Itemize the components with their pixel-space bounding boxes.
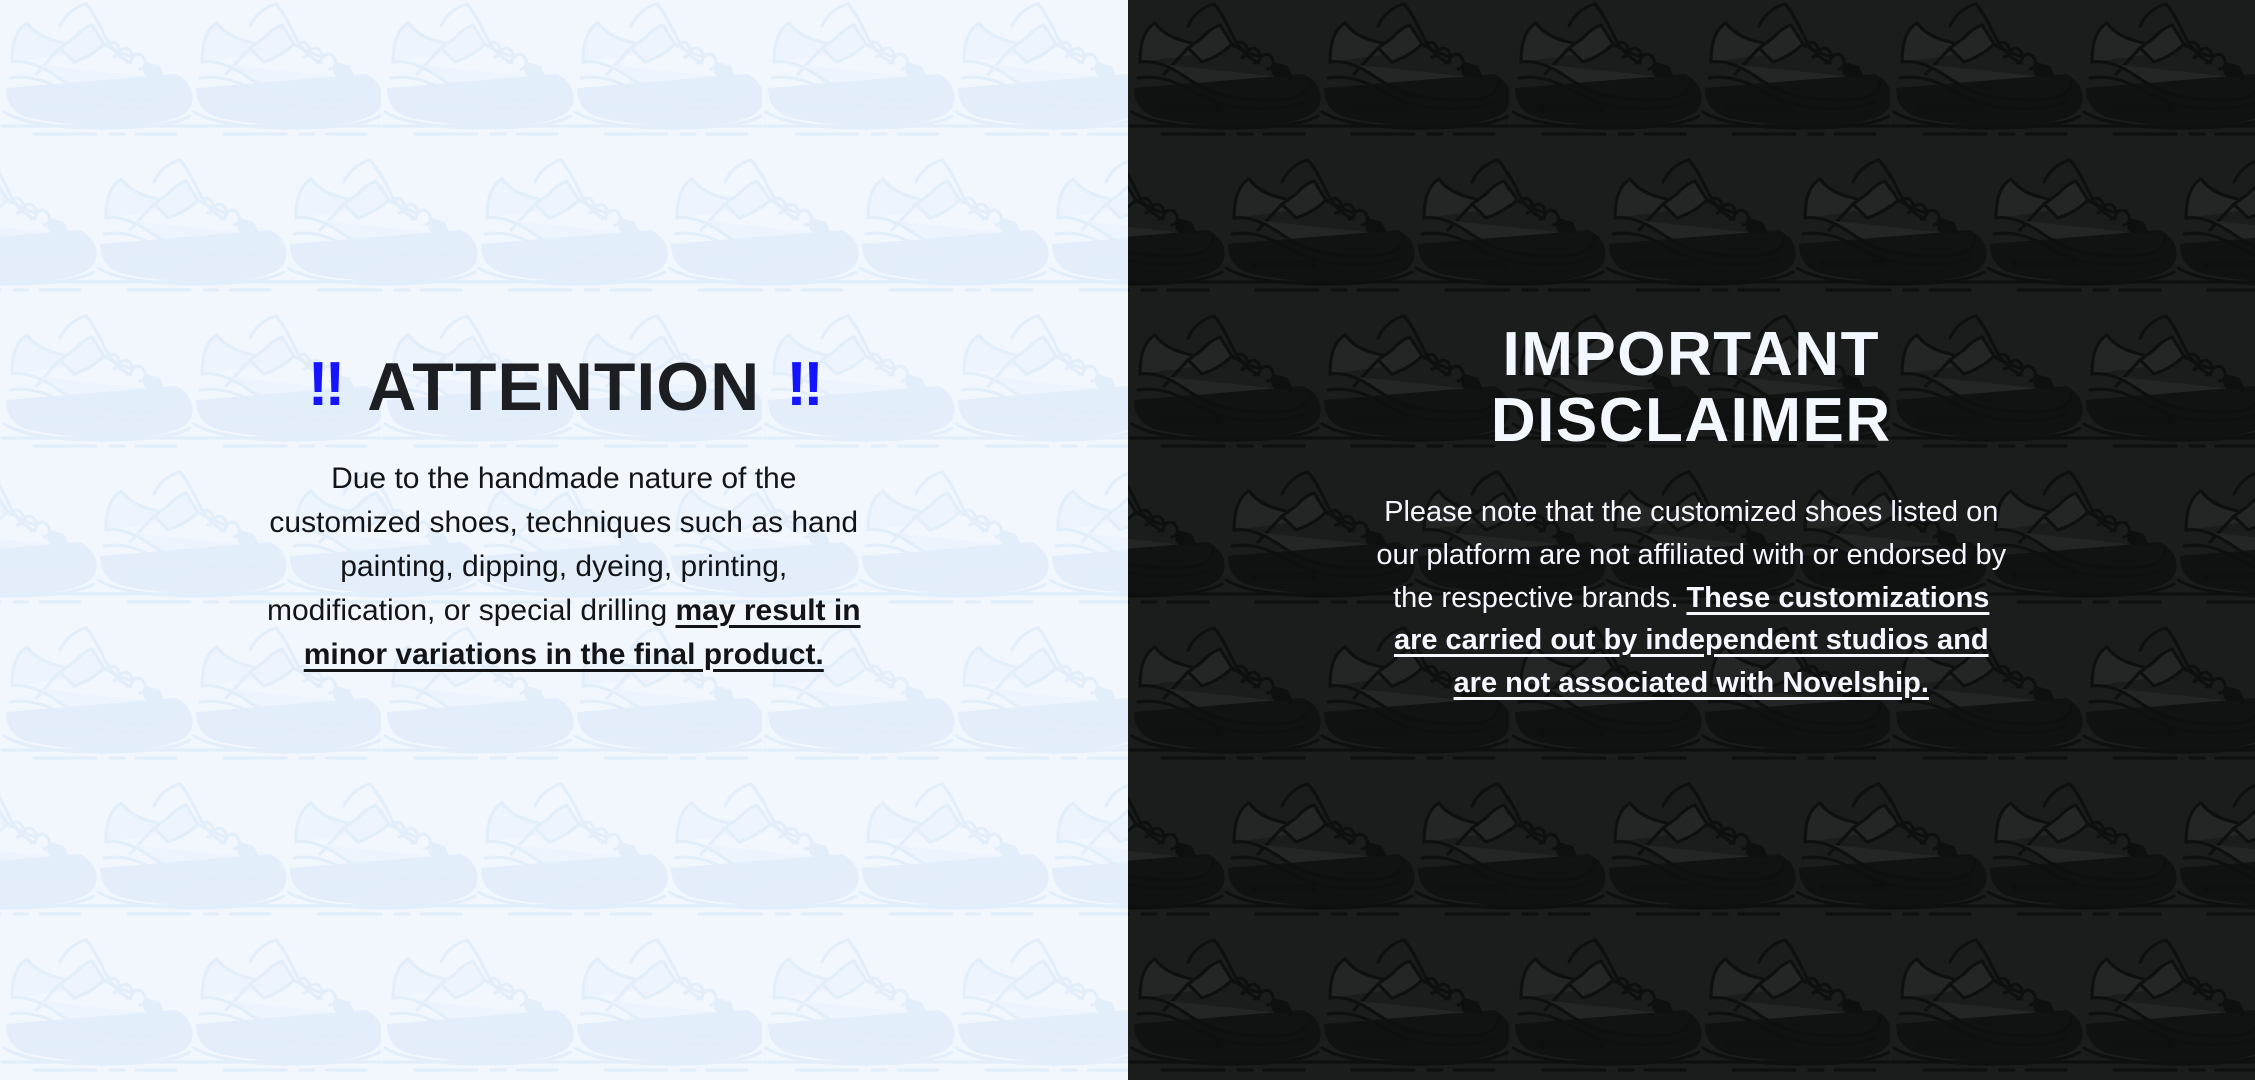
disclaimer-banner: ‼ ATTENTION ‼ Due to the handmade nature…: [0, 0, 2255, 1080]
attention-content: ‼ ATTENTION ‼ Due to the handmade nature…: [0, 0, 1128, 677]
attention-panel: ‼ ATTENTION ‼ Due to the handmade nature…: [0, 0, 1128, 1080]
double-exclamation-right-icon: ‼: [786, 354, 819, 416]
attention-body-text: Due to the handmade nature of the custom…: [254, 457, 874, 677]
attention-heading: ‼ ATTENTION ‼: [308, 352, 820, 423]
attention-heading-text: ATTENTION: [367, 352, 760, 423]
disclaimer-body-text: Please note that the customized shoes li…: [1371, 491, 2011, 704]
disclaimer-heading-line2: DISCLAIMER: [1491, 386, 1892, 455]
double-exclamation-left-icon: ‼: [308, 354, 341, 416]
disclaimer-heading: IMPORTANT DISCLAIMER: [1491, 322, 1892, 453]
disclaimer-panel: IMPORTANT DISCLAIMER Please note that th…: [1128, 0, 2255, 1080]
disclaimer-content: IMPORTANT DISCLAIMER Please note that th…: [1128, 0, 2255, 705]
disclaimer-heading-line1: IMPORTANT: [1503, 320, 1880, 389]
